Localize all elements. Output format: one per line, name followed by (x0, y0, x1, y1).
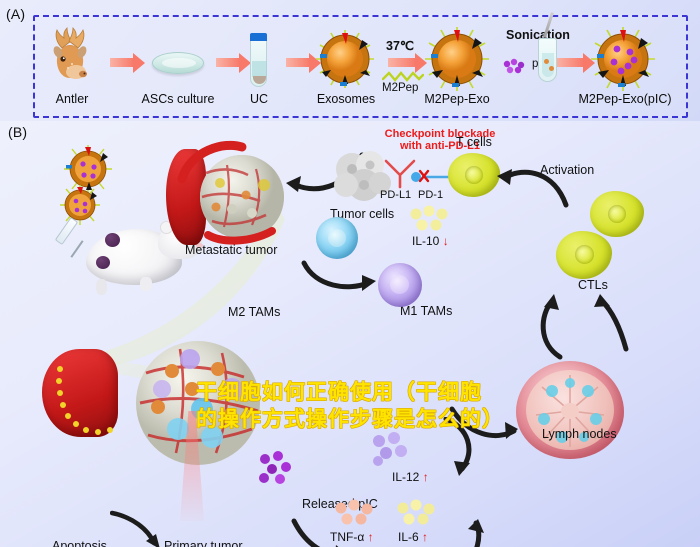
cytokine-il10-name: IL-10 (412, 234, 439, 248)
arrow-to-ctls-right (590, 293, 638, 353)
process-arrow-4 (388, 58, 416, 67)
tube-cap (250, 33, 267, 41)
stage-label-uc: UC (240, 92, 278, 106)
tube-liquid (252, 61, 267, 77)
tube-pellet (253, 76, 266, 84)
scientific-figure: (A) Antler (0, 0, 700, 547)
cytokine-il12: IL-12 ↑ (392, 470, 429, 484)
loaded-exosome-icon (590, 26, 656, 92)
peptide-exosome-icon (424, 26, 490, 92)
il6-dots-icon (396, 499, 438, 527)
ctl-nucleus-1 (608, 205, 626, 223)
panel-a-tag: (A) (6, 6, 25, 22)
centrifuge-tube-icon (250, 33, 267, 87)
cytokine-il12-name: IL-12 (392, 470, 419, 484)
ctl-cell-2 (556, 231, 612, 279)
arrow-to-ctls-left (530, 293, 578, 361)
arrow-to-immature-dc (290, 517, 352, 547)
label-m1-tams: M1 TAMs (400, 304, 452, 318)
label-pd-l1: PD-L1 (380, 189, 411, 201)
stage-label-m2pep-exo-pic: M2Pep-Exo(pIC) (560, 92, 690, 106)
panel-a: (A) Antler (0, 0, 700, 121)
cytokine-il10-arrow: ↓ (443, 234, 449, 248)
process-arrow-1 (110, 58, 134, 67)
il10-dots-icon (408, 205, 454, 233)
cytokine-tnfa-arrow: ↑ (368, 530, 374, 544)
t-cell-nucleus (465, 166, 483, 184)
cytokine-il12-arrow: ↑ (423, 470, 429, 484)
t-cell-icon (448, 153, 500, 197)
cytokine-il6-arrow: ↑ (422, 530, 428, 544)
process-arrow-3 (286, 58, 310, 67)
mouse-leg (96, 279, 107, 295)
arrow-dc-to-lymph (438, 519, 508, 547)
il12-dots-icon (370, 431, 414, 467)
panel-b-tag: (B) (8, 124, 27, 140)
mouse-tumor-spot-1 (105, 233, 120, 247)
label-apoptosis: Apoptosis (52, 539, 107, 547)
label-activation: Activation (540, 163, 594, 177)
pic-dots-icon (502, 58, 528, 74)
macrophage-purple-nucleus (390, 275, 409, 294)
mouse-tumor-spot-2 (96, 256, 110, 269)
deer-icon (46, 26, 98, 82)
label-ctls: CTLs (578, 278, 608, 292)
process-arrow-5 (556, 58, 584, 67)
cytokine-il6-name: IL-6 (398, 530, 419, 544)
arrow-apoptosis (110, 509, 170, 547)
ctl-cell-1 (590, 191, 644, 237)
label-metastatic-tumor: Metastatic tumor (185, 243, 277, 257)
stage-label-antler: Antler (46, 92, 98, 106)
stage-label-exosomes: Exosomes (307, 92, 385, 106)
lymph-node-detail (516, 361, 624, 459)
label-pd-1: PD-1 (418, 189, 443, 201)
arrow-m2-to-m1 (300, 257, 378, 295)
label-m2-tams: M2 TAMs (228, 305, 280, 319)
condition-temperature: 37℃ (386, 38, 414, 53)
label-lymph-nodes: Lymph nodes (542, 427, 617, 441)
label-primary-tumor: Primary tumor (164, 539, 242, 547)
ctl-nucleus-2 (575, 245, 594, 264)
cytokine-il10: IL-10 ↓ (412, 234, 449, 248)
process-arrow-2 (216, 58, 240, 67)
stage-label-asc-culture: ASCs culture (128, 92, 228, 106)
exosome-icon (314, 28, 376, 90)
released-pic-dots-1 (258, 451, 298, 485)
cytokine-il6: IL-6 ↑ (398, 530, 428, 544)
stage-label-m2pep-exo: M2Pep-Exo (408, 92, 506, 106)
label-t-cells: T cells (456, 135, 492, 149)
sonicator-tube-icon (538, 38, 557, 82)
panel-b: (B) (0, 121, 700, 547)
metastatic-tumor-icon (172, 139, 302, 249)
mouse-leg-2 (140, 277, 152, 291)
arrow-lymph-left (448, 403, 520, 449)
petri-dish-icon (152, 52, 204, 74)
macrophage-blue-nucleus (328, 229, 346, 247)
